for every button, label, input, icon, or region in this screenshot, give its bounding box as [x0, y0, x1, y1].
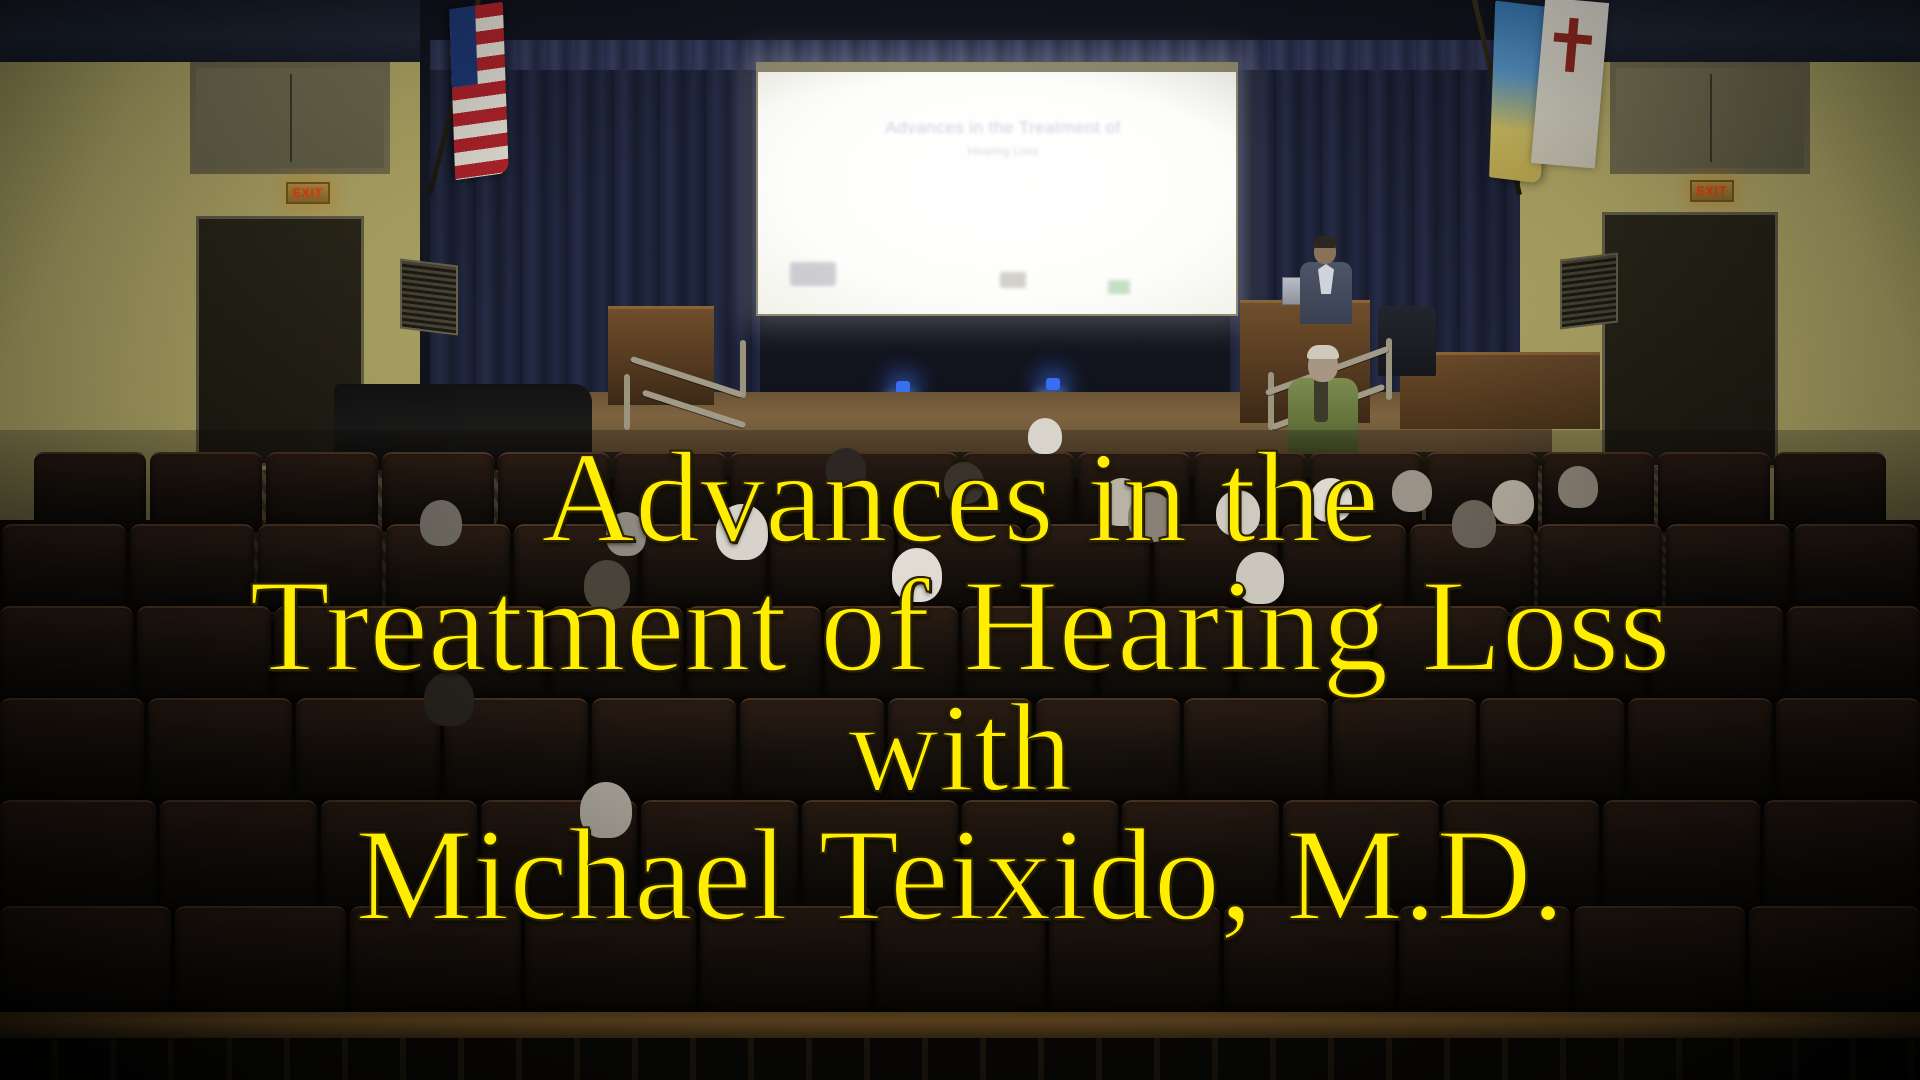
audience-member-head — [944, 462, 984, 504]
audience-member-head — [1310, 478, 1352, 522]
wall-grille-left — [400, 258, 458, 335]
auditorium-seat — [962, 606, 1095, 702]
audience-member-head — [1558, 466, 1598, 508]
auditorium-seat — [0, 800, 156, 914]
auditorium-seat — [2, 524, 126, 612]
audience-member-head — [716, 504, 768, 560]
seat-row — [0, 524, 1920, 612]
auditorium-seat — [1603, 800, 1759, 914]
auditorium-seat — [137, 606, 270, 702]
blue-stage-light-right — [1046, 378, 1060, 390]
audience-member-head — [584, 560, 630, 610]
handrail-post-4 — [1268, 372, 1274, 430]
auditorium-seat — [34, 452, 146, 532]
acoustic-panel-left — [190, 62, 390, 174]
auditorium-seat — [0, 606, 133, 702]
seat-row — [0, 800, 1920, 914]
auditorium-seat — [1649, 606, 1782, 702]
auditorium-seat — [1787, 606, 1920, 702]
auditorium-seat — [550, 606, 683, 702]
seat-row — [0, 906, 1920, 1024]
auditorium-seat — [1574, 906, 1745, 1024]
auditorium-seat — [1049, 906, 1220, 1024]
auditorium-seat — [1776, 698, 1920, 804]
wall-grille-right — [1560, 252, 1618, 329]
auditorium-seat — [1332, 698, 1476, 804]
auditorium-seat — [150, 452, 262, 532]
audience-member-head — [1492, 480, 1534, 524]
audience-member-head — [1236, 552, 1284, 604]
attendee-scarf — [1314, 378, 1328, 422]
acoustic-panel-right — [1610, 62, 1810, 174]
attendee-hair — [1307, 345, 1339, 359]
auditorium-seat — [1399, 906, 1570, 1024]
slide-logo-left-icon — [790, 262, 836, 286]
auditorium-seat — [258, 524, 382, 612]
exit-sign-right: EXIT — [1690, 180, 1734, 202]
auditorium-seat — [802, 800, 958, 914]
audience-member-head — [1392, 470, 1432, 512]
audience-member-head — [1452, 500, 1496, 548]
auditorium-seat — [1512, 606, 1645, 702]
slide-logo-center-icon — [1000, 272, 1026, 288]
auditorium-seat — [740, 698, 884, 804]
audience-member-head — [420, 500, 462, 546]
exit-sign-left-label: EXIT — [293, 186, 324, 200]
audience-member-head — [1128, 492, 1174, 542]
auditorium-seat — [1122, 800, 1278, 914]
audience-member-head — [606, 512, 646, 556]
seat-row — [0, 698, 1920, 804]
audience-house — [0, 430, 1920, 1080]
auditorium-seat — [1774, 452, 1886, 532]
auditorium-seat — [962, 800, 1118, 914]
video-frame: Advances in the Treatment of Hearing Los… — [0, 0, 1920, 1080]
seat-row — [0, 606, 1920, 702]
auditorium-seat — [1224, 906, 1395, 1024]
auditorium-seat — [130, 524, 254, 612]
auditorium-seat — [321, 800, 477, 914]
auditorium-seat — [1099, 606, 1232, 702]
auditorium-seat — [1283, 800, 1439, 914]
slide-title: Advances in the Treatment of — [858, 118, 1148, 138]
auditorium-seat — [1282, 524, 1406, 612]
auditorium-seat — [888, 698, 1032, 804]
audience-member-head — [892, 548, 942, 602]
balcony-rail — [0, 1012, 1920, 1038]
auditorium-seat — [641, 800, 797, 914]
audience-member-head — [1216, 490, 1260, 536]
auditorium-seat — [687, 606, 820, 702]
audience-member-head — [826, 448, 866, 490]
auditorium-seat — [700, 906, 871, 1024]
slide-logo-right-icon — [1108, 280, 1130, 294]
auditorium-seat — [770, 524, 894, 612]
exit-sign-right-label: EXIT — [1697, 184, 1728, 198]
auditorium-seat — [1658, 452, 1770, 532]
auditorium-seat — [875, 906, 1046, 1024]
auditorium-seat — [1480, 698, 1624, 804]
auditorium-seat — [1443, 800, 1599, 914]
auditorium-seat — [175, 906, 346, 1024]
auditorium-seat — [1184, 698, 1328, 804]
auditorium-seat — [0, 906, 171, 1024]
slide-subtitle: Hearing Loss — [858, 144, 1148, 158]
auditorium-seat — [1764, 800, 1920, 914]
auditorium-seat — [525, 906, 696, 1024]
exit-sign-left: EXIT — [286, 182, 330, 204]
auditorium-seat — [825, 606, 958, 702]
us-flag-icon — [449, 2, 508, 180]
auditorium-seat — [350, 906, 521, 1024]
auditorium-seat — [1794, 524, 1918, 612]
auditorium-seat — [498, 452, 610, 532]
auditorium-seat — [296, 698, 440, 804]
auditorium-seat — [1749, 906, 1920, 1024]
auditorium-seat — [1628, 698, 1772, 804]
auditorium-seat — [0, 698, 144, 804]
auditorium-seat — [160, 800, 316, 914]
audience-member-head — [424, 672, 474, 726]
auditorium-seat — [1666, 524, 1790, 612]
handrail-post-2 — [740, 340, 746, 398]
auditorium-seat — [1036, 698, 1180, 804]
auditorium-seat — [148, 698, 292, 804]
auditorium-scene: Advances in the Treatment of Hearing Los… — [0, 0, 1920, 1080]
handrail-post-1 — [624, 374, 630, 430]
auditorium-seat — [275, 606, 408, 702]
presenter-hair — [1313, 236, 1337, 248]
auditorium-seat — [1026, 524, 1150, 612]
auditorium-seat — [1374, 606, 1507, 702]
auditorium-seat — [1237, 606, 1370, 702]
audience-member-head — [1028, 418, 1062, 454]
auditorium-seat — [266, 452, 378, 532]
audience-member-head — [580, 782, 632, 838]
balcony-rail-balusters — [0, 1038, 1920, 1080]
auditorium-seat — [1538, 524, 1662, 612]
